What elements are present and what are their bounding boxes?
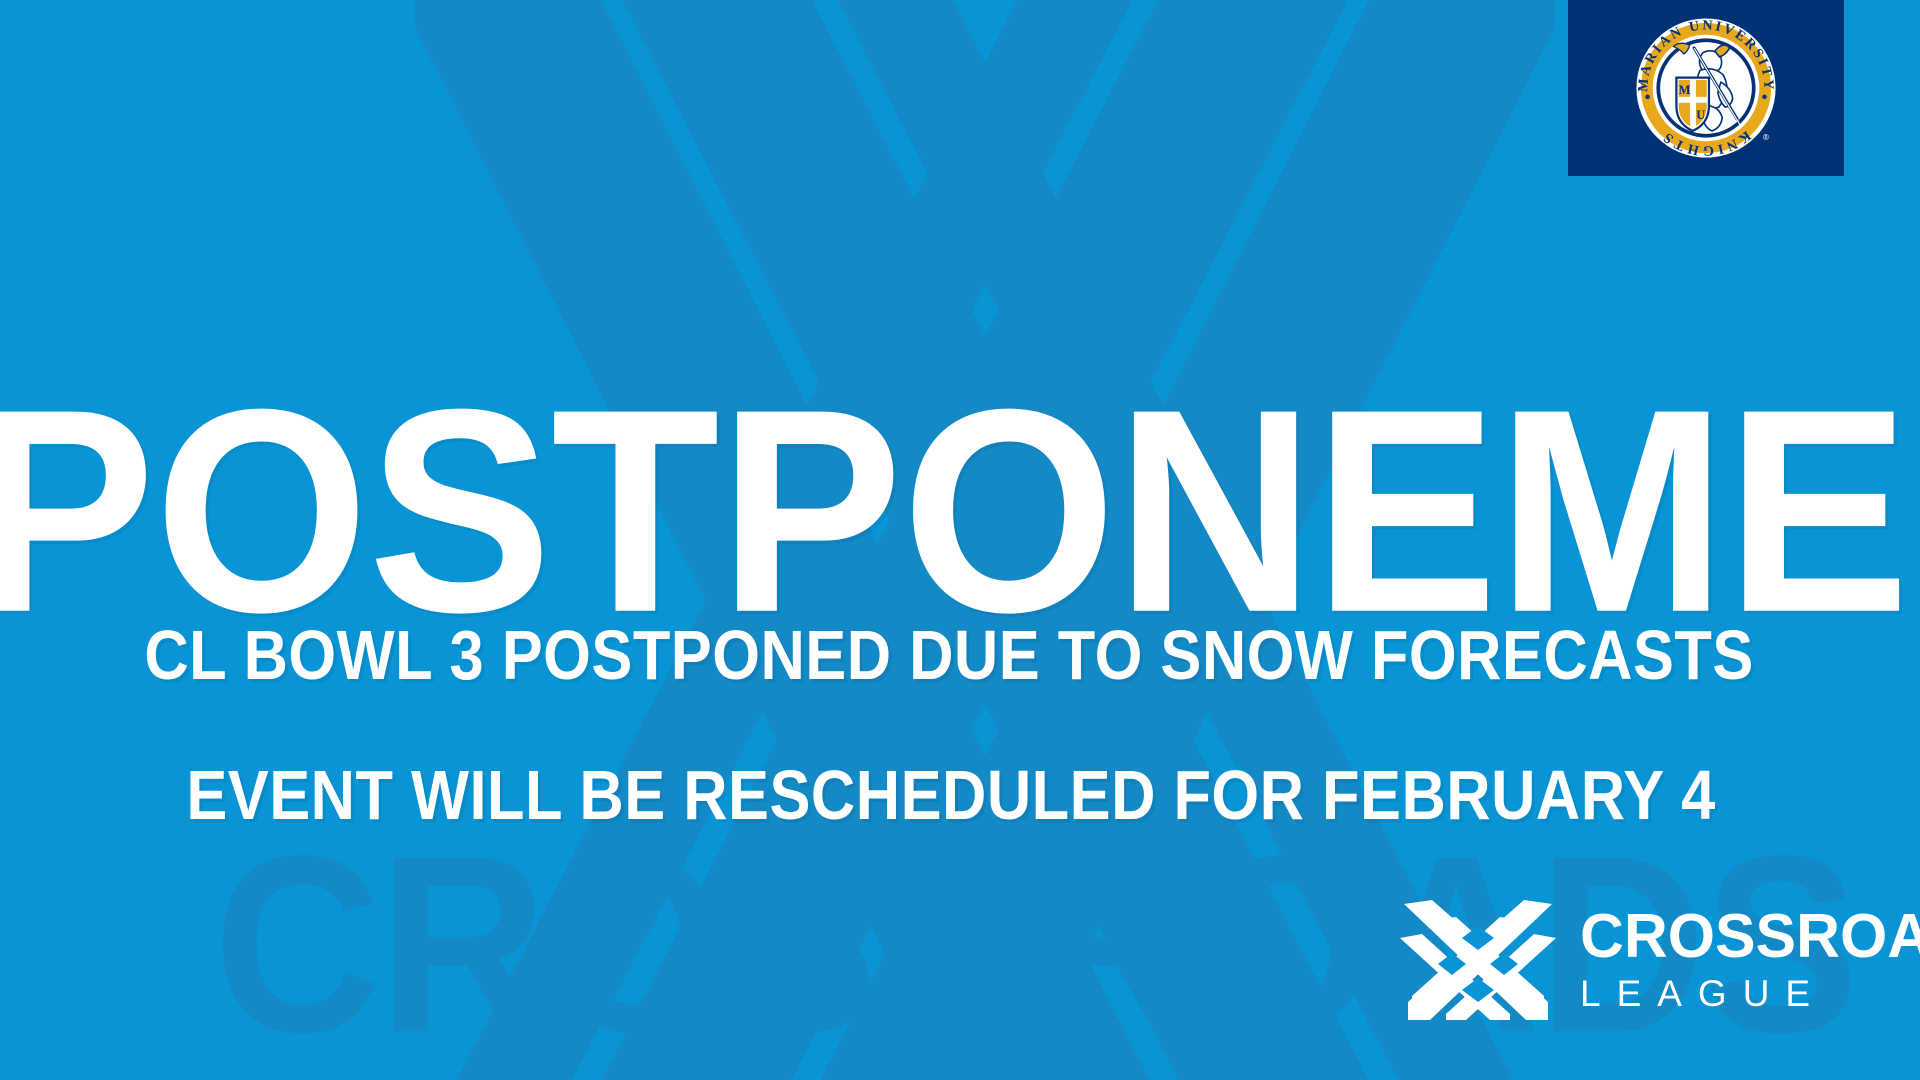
marian-university-knights-seal-icon: MARIAN UNIVERSITY KNIGHTS (1632, 14, 1780, 162)
subtitle-line-2: EVENT WILL BE RESCHEDULED FOR FEBRUARY 4 (10, 762, 1911, 831)
crossroads-league-wordmark-secondary: LEAGUE (1580, 975, 1826, 1012)
svg-text:U: U (1696, 108, 1705, 122)
svg-text:®: ® (1763, 133, 1769, 142)
subtitle-line-1: CL BOWL 3 POSTPONED DUE TO SNOW FORECAST… (10, 622, 1911, 691)
page-title: POSTPONEMENT (0, 398, 1920, 624)
announcement-graphic: CROSSROADS MARIAN UNIVERSITY KN (0, 0, 1920, 1080)
svg-text:M: M (1679, 83, 1691, 97)
crossroads-league-x-mark-icon (1398, 898, 1558, 1022)
marian-university-logo-box: MARIAN UNIVERSITY KNIGHTS (1568, 0, 1844, 176)
crossroads-league-logo: CROSSROADS LEAGUE (1398, 890, 1878, 1030)
crossroads-league-wordmark-primary: CROSSROADS (1580, 908, 1920, 965)
